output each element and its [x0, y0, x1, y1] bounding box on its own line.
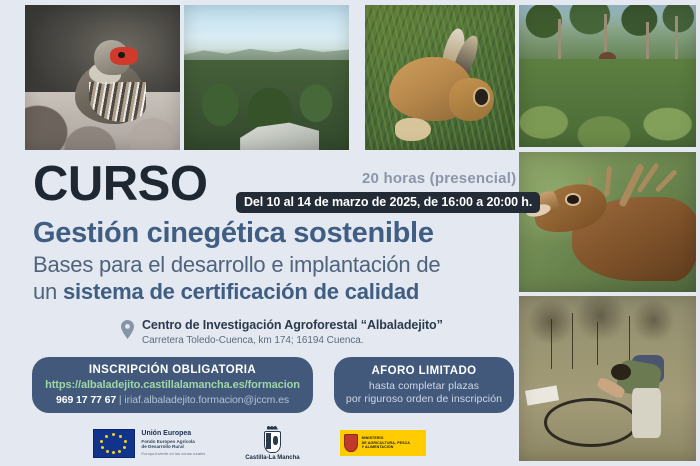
registration-title: INSCRIPCIÓN OBLIGATORIA [89, 364, 256, 376]
photo-hare [365, 5, 515, 150]
photo-vignette [25, 5, 180, 150]
ministerio-text: MINISTERIO DE AGRICULTURA, PESCA Y ALIME… [362, 436, 410, 449]
logo-strip: Unión Europea Fondo Europeo Agrícola de … [0, 420, 519, 466]
course-dates-badge: Del 10 al 14 de marzo de 2025, de 16:00 … [236, 192, 540, 213]
page-title-curso: CURSO [33, 160, 207, 209]
clm-crown-icon [267, 426, 278, 430]
photo-vignette [184, 5, 349, 150]
course-subtitle-line1: Bases para el desarrollo e implantación … [33, 252, 440, 277]
capacity-line2: por riguroso orden de inscripción [346, 393, 502, 405]
venue-name: Centro de Investigación Agroforestal “Al… [142, 318, 443, 333]
registration-contact: 969 17 77 67 | iriaf.albaladejito.formac… [56, 394, 289, 406]
eu-fund-line2: de Desarrollo Rural [141, 444, 205, 449]
capacity-line1: hasta completar plazas [369, 380, 479, 392]
venue-address: Carretera Toledo-Cuenca, km 174; 16194 C… [142, 335, 443, 346]
ministerio-line3: Y ALIMENTACIÓN [362, 445, 410, 449]
registration-url[interactable]: https://albaladejito.castillalamancha.es… [45, 379, 300, 391]
location-pin-icon [120, 320, 135, 339]
photo-vignette [519, 152, 696, 292]
poster-root: CURSO 20 horas (presencial) Del 10 al 14… [0, 0, 700, 466]
photo-landscape [184, 5, 349, 150]
photo-sampling [519, 296, 696, 461]
clm-label: Castilla-La Mancha [245, 455, 299, 461]
capacity-pill: AFORO LIMITADO hasta completar plazas po… [334, 357, 514, 413]
logo-castilla-la-mancha: Castilla-La Mancha [245, 426, 299, 461]
eu-title: Unión Europea [141, 430, 205, 438]
registration-email[interactable]: iriaf.albaladejito.formacion@jccm.es [124, 394, 289, 406]
spain-coat-of-arms-icon [344, 434, 358, 452]
photo-vignette [365, 5, 515, 150]
logo-union-europea: Unión Europea Fondo Europeo Agrícola de … [93, 429, 205, 458]
venue-block: Centro de Investigación Agroforestal “Al… [120, 318, 520, 346]
eu-slogan: Europa invierte en las zonas rurales [141, 452, 205, 457]
clm-crest-icon [264, 426, 281, 453]
photo-field-worker [519, 5, 696, 147]
course-subtitle-line2: un sistema de certificación de calidad [33, 279, 419, 304]
clm-shield-icon [264, 431, 281, 453]
course-title: Gestión cinegética sostenible [33, 218, 434, 249]
subtitle-bold: sistema de certificación de calidad [63, 279, 419, 304]
photo-vignette [519, 5, 696, 147]
registration-phone[interactable]: 969 17 77 67 [56, 394, 116, 406]
photo-vignette [519, 296, 696, 461]
registration-pill[interactable]: INSCRIPCIÓN OBLIGATORIA https://albalade… [32, 357, 313, 413]
eu-flag-icon [93, 429, 135, 458]
photo-partridge [25, 5, 180, 150]
course-hours: 20 horas (presencial) [362, 170, 516, 187]
photo-deer [519, 152, 696, 292]
logo-ministerio: MINISTERIO DE AGRICULTURA, PESCA Y ALIME… [340, 430, 426, 456]
capacity-title: AFORO LIMITADO [371, 365, 476, 377]
eu-logo-text: Unión Europea Fondo Europeo Agrícola de … [141, 430, 205, 457]
subtitle-plain: un [33, 279, 63, 304]
